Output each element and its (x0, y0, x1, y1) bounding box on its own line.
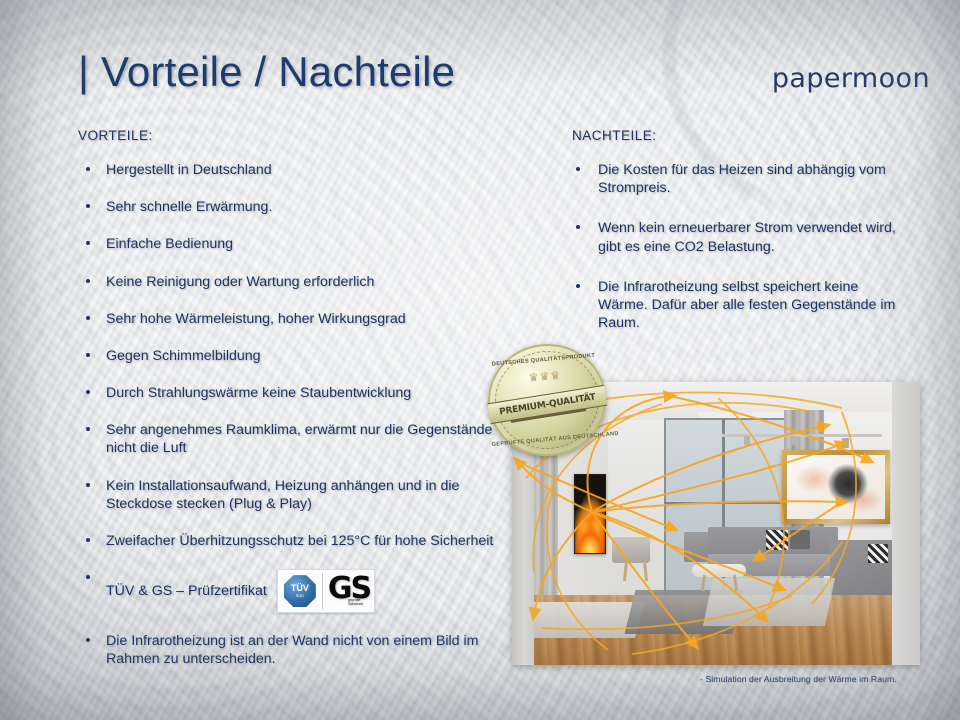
advantages-list: Hergestellt in Deutschland Sehr schnelle… (78, 161, 508, 668)
tuv-gs-certificate-badge: TÜVSÜDGSgeprüfte Sicherheit (277, 569, 375, 613)
list-item: Sehr angenehmes Raumklima, erwärmt nur d… (78, 421, 508, 457)
list-item-text: TÜV & GS – Prüfzertifikat (106, 583, 267, 599)
list-item-text: Einfache Bedienung (106, 236, 233, 252)
disadvantages-column: NACHTEILE: Die Kosten für das Heizen sin… (572, 128, 902, 354)
list-item: Die Kosten für das Heizen sind abhängig … (572, 161, 902, 197)
list-item-tuv: TÜV & GS – PrüfzertifikatTÜVSÜDGSgeprüft… (78, 569, 508, 613)
list-item-text: Sehr hohe Wärmeleistung, hoher Wirkungsg… (106, 311, 406, 327)
badge-divider (322, 573, 323, 609)
list-item: Kein Installationsaufwand, Heizung anhän… (78, 477, 508, 513)
list-item: Die Infrarotheizung ist an der Wand nich… (78, 632, 508, 668)
papermoon-logo: papermoon (772, 63, 930, 94)
list-item-text: Sehr schnelle Erwärmung. (106, 199, 272, 215)
list-item-text: Hergestellt in Deutschland (106, 162, 272, 178)
list-item: Gegen Schimmelbildung (78, 347, 508, 365)
list-item-text: Die Infrarotheizung ist an der Wand nich… (106, 633, 478, 667)
list-item: Sehr hohe Wärmeleistung, hoher Wirkungsg… (78, 310, 508, 328)
list-item-text: Keine Reinigung oder Wartung erforderlic… (106, 274, 374, 290)
disadvantages-list: Die Kosten für das Heizen sind abhängig … (572, 161, 902, 332)
tuv-icon: TÜVSÜD (284, 575, 316, 607)
advantages-heading: VORTEILE: (78, 128, 508, 143)
list-item: Zweifacher Überhitzungsschutz bei 125°C … (78, 532, 508, 550)
list-item-text: Gegen Schimmelbildung (106, 348, 261, 364)
list-item: Sehr schnelle Erwärmung. (78, 198, 508, 216)
page-title: | Vorteile / Nachteile (78, 48, 455, 96)
list-item-text: Die Kosten für das Heizen sind abhängig … (598, 162, 886, 196)
list-item-text: Zweifacher Überhitzungsschutz bei 125°C … (106, 533, 493, 549)
tuv-sub-label: SÜD (296, 594, 304, 598)
gs-sub-label: geprüfte Sicherheit (348, 598, 374, 607)
list-item-text: Die Infrarotheizung selbst speichert kei… (598, 279, 895, 331)
list-item: Die Infrarotheizung selbst speichert kei… (572, 278, 902, 333)
list-item: Keine Reinigung oder Wartung erforderlic… (78, 273, 508, 291)
disadvantages-heading: NACHTEILE: (572, 128, 902, 143)
list-item-text: Kein Installationsaufwand, Heizung anhän… (106, 478, 459, 512)
list-item: Hergestellt in Deutschland (78, 161, 508, 179)
tuv-label: TÜV (291, 584, 309, 593)
list-item-text: Durch Strahlungswärme keine Staubentwick… (106, 385, 411, 401)
list-item-text: Sehr angenehmes Raumklima, erwärmt nur d… (106, 422, 492, 456)
premium-quality-seal: DEUTSCHES QUALITÄTSPRODUKT ♛♛♛ PREMIUM-Q… (483, 339, 610, 461)
list-item-text: Wenn kein erneuerbarer Strom verwendet w… (598, 220, 896, 254)
list-item: Durch Strahlungswärme keine Staubentwick… (78, 384, 508, 402)
list-item: Wenn kein erneuerbarer Strom verwendet w… (572, 219, 902, 255)
slide: | Vorteile / Nachteile papermoon VORTEIL… (0, 0, 960, 720)
list-item: Einfache Bedienung (78, 235, 508, 253)
photo-caption: - Simulation der Ausbreitung der Wärme i… (700, 674, 897, 684)
advantages-column: VORTEILE: Hergestellt in Deutschland Seh… (78, 128, 508, 687)
